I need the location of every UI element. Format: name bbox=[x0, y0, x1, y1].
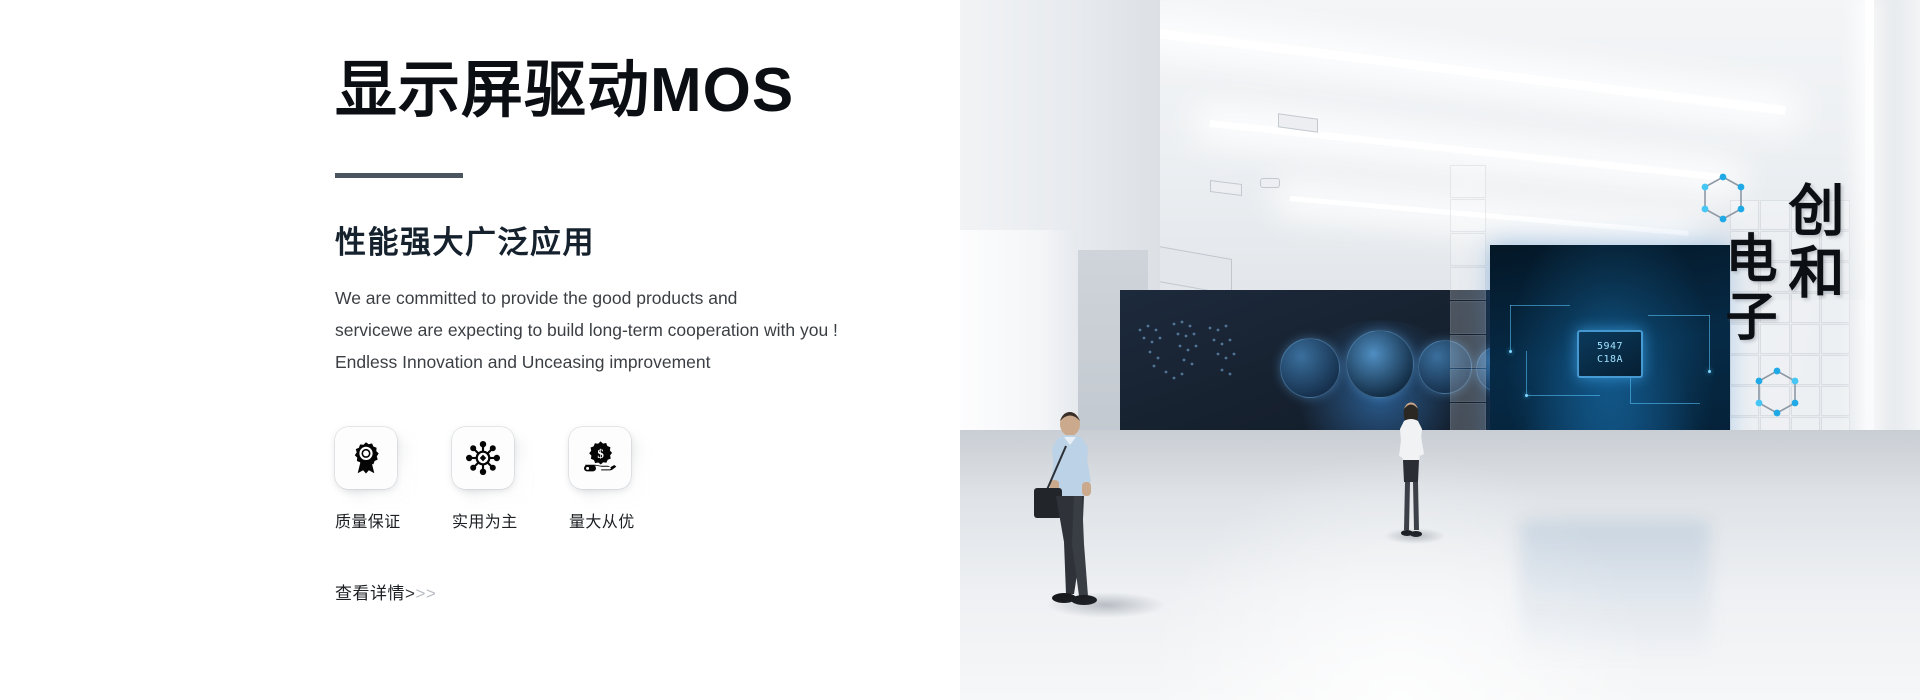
chip-graphic: 5947 C18A bbox=[1577, 330, 1643, 378]
chip-code-line1: 5947 bbox=[1597, 341, 1623, 354]
feature-icon-wrap: $ bbox=[569, 427, 631, 489]
wall-signage: 创和 电子 bbox=[1690, 175, 1840, 425]
molecule-hex-top-icon bbox=[1696, 169, 1750, 238]
person-standing-man bbox=[1026, 410, 1118, 615]
circuit-trace bbox=[1510, 305, 1511, 351]
circuit-node bbox=[1525, 394, 1528, 397]
exhibit-round-panel-1 bbox=[1280, 338, 1340, 398]
cta-arrow-primary: > bbox=[405, 584, 415, 603]
text-panel: 显示屏驱动MOS 性能强大广泛应用 We are committed to pr… bbox=[0, 0, 960, 700]
circuit-trace bbox=[1510, 305, 1570, 306]
signage-column-dianzi: 电子 bbox=[1720, 231, 1772, 347]
chip-code-line2: C18A bbox=[1597, 354, 1623, 367]
molecule-hex-bottom-icon bbox=[1750, 363, 1804, 432]
feature-item-quality[interactable]: 质量保证 bbox=[335, 427, 452, 532]
person-shadow-man bbox=[1046, 592, 1166, 618]
feature-item-bulk-discount[interactable]: $ 量大从优 bbox=[569, 427, 686, 532]
circuit-trace bbox=[1526, 395, 1600, 396]
description-line-1: We are committed to provide the good pro… bbox=[335, 283, 895, 315]
cta-label: 查看详情 bbox=[335, 584, 405, 603]
circuit-trace bbox=[1526, 351, 1527, 395]
cta-arrow-secondary: >> bbox=[415, 584, 436, 603]
signage-column-chuanghe: 创和 bbox=[1784, 181, 1840, 305]
feature-list: 质量保证 bbox=[335, 427, 895, 532]
description-line-3: Endless Innovation and Unceasing improve… bbox=[335, 347, 895, 379]
feature-label: 实用为主 bbox=[452, 508, 518, 532]
exhibit-round-panel-2 bbox=[1346, 330, 1414, 398]
award-ribbon-icon bbox=[335, 427, 397, 489]
world-dot-map bbox=[1130, 300, 1260, 420]
network-hub-icon bbox=[452, 427, 514, 489]
title-divider bbox=[335, 173, 463, 178]
showroom-photo: 5947 C18A bbox=[960, 0, 1920, 700]
feature-item-practical[interactable]: 实用为主 bbox=[452, 427, 569, 532]
feature-icon-wrap bbox=[452, 427, 514, 489]
page-title: 显示屏驱动MOS bbox=[335, 58, 895, 125]
person-shadow-woman bbox=[1384, 528, 1446, 544]
hand-coin-icon: $ bbox=[569, 427, 631, 489]
description: We are committed to provide the good pro… bbox=[335, 283, 895, 379]
person-standing-woman bbox=[1384, 400, 1438, 545]
description-line-2: servicewe are expecting to build long-te… bbox=[335, 315, 895, 347]
ceiling-speaker bbox=[1260, 178, 1280, 188]
feature-icon-wrap bbox=[335, 427, 397, 489]
text-content: 显示屏驱动MOS 性能强大广泛应用 We are committed to pr… bbox=[335, 58, 895, 604]
svg-text:$: $ bbox=[597, 445, 604, 460]
led-floor-reflection bbox=[1520, 520, 1710, 700]
circuit-node bbox=[1509, 350, 1512, 353]
feature-label: 量大从优 bbox=[569, 508, 635, 532]
sub-title: 性能强大广泛应用 bbox=[335, 224, 895, 261]
feature-label: 质量保证 bbox=[335, 508, 401, 532]
view-details-link[interactable]: 查看详情>>> bbox=[335, 579, 436, 604]
hero-banner: 5947 C18A bbox=[0, 0, 1920, 700]
